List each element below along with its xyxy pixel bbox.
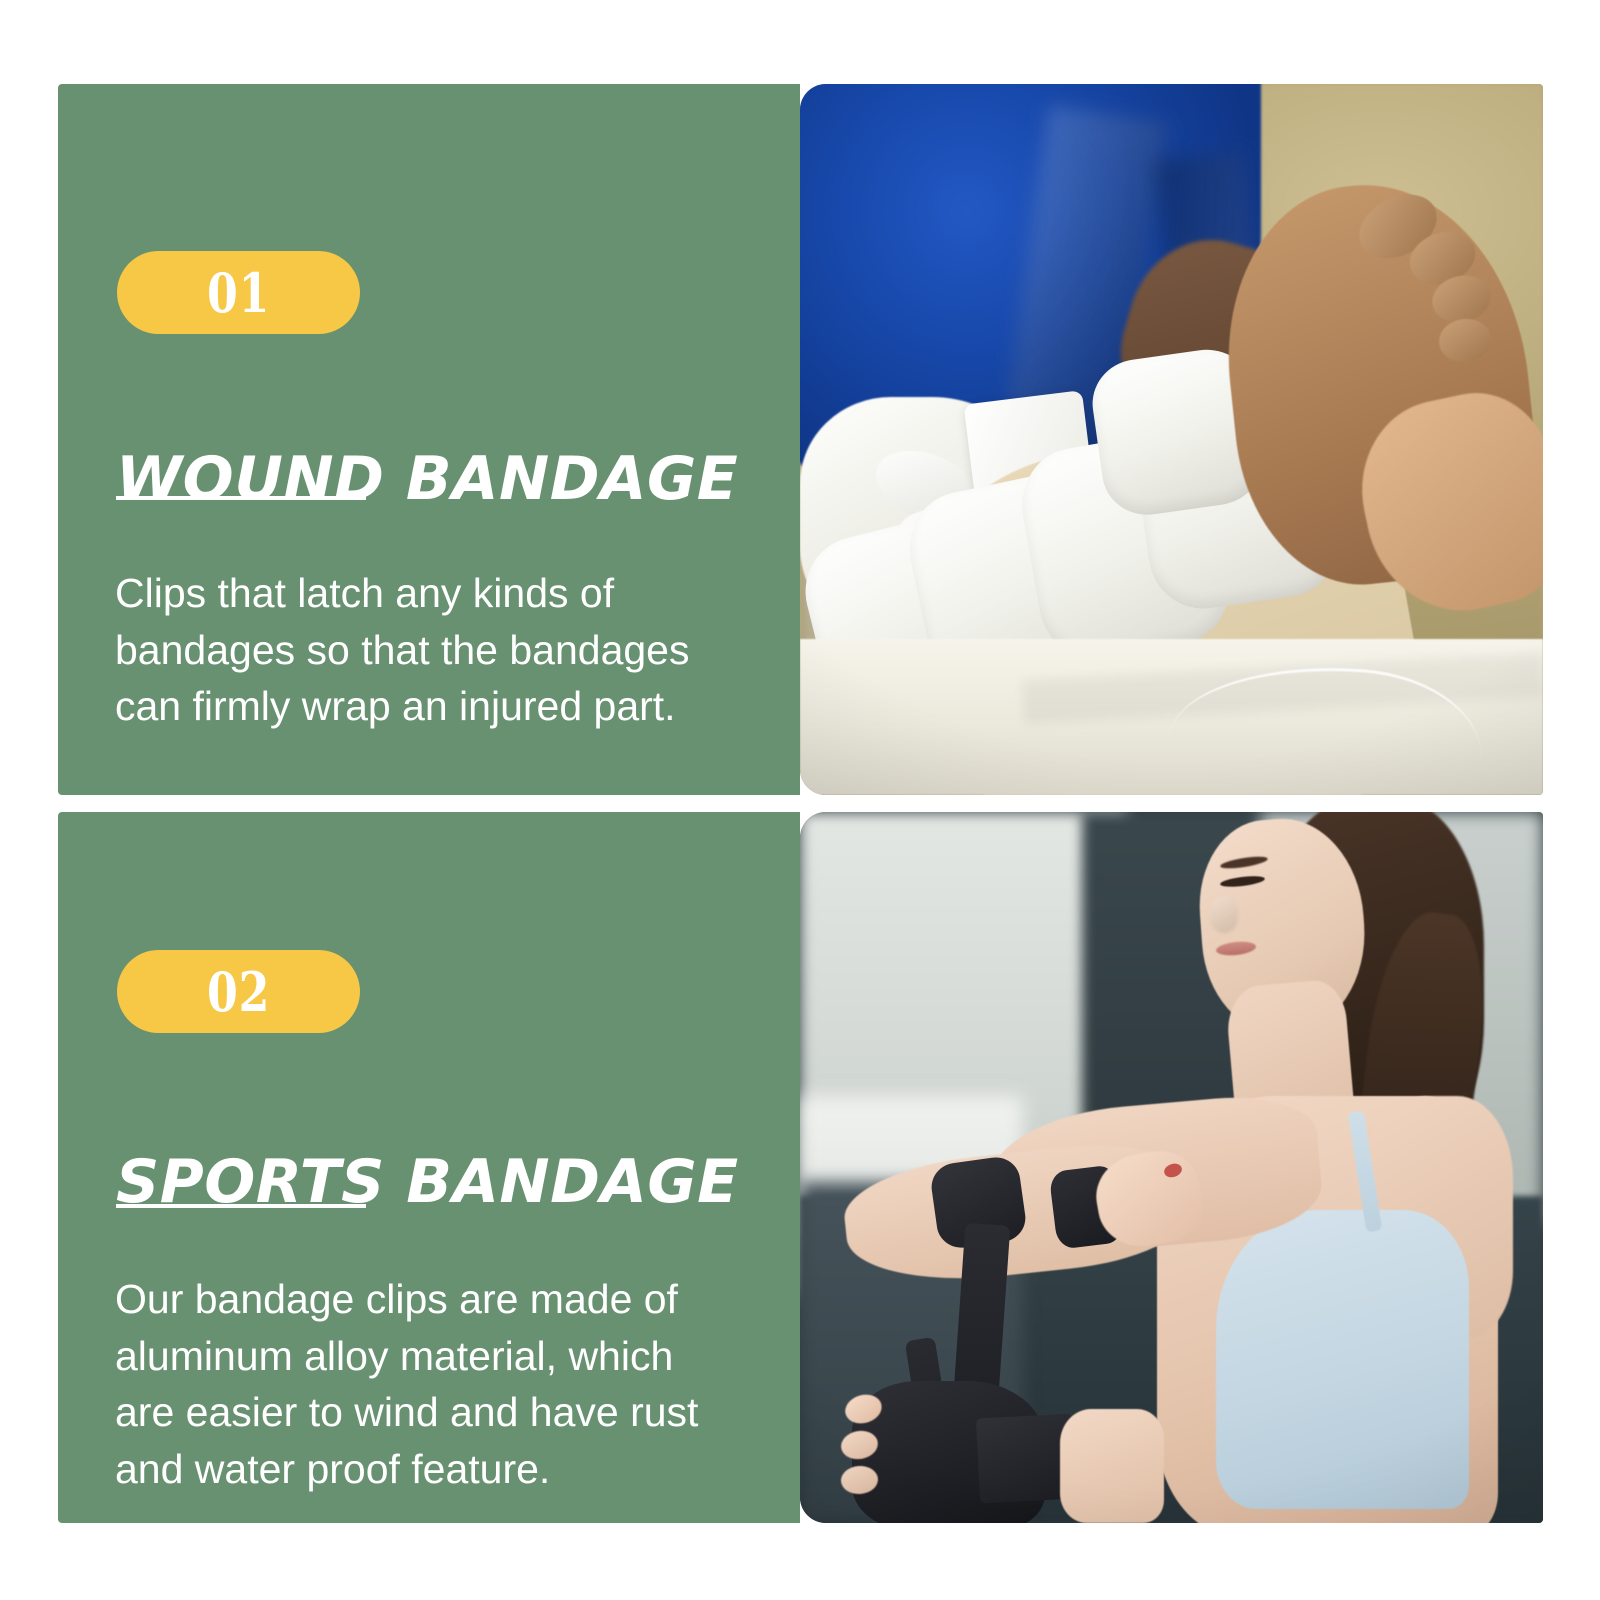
photo-sports-bandage-scene (800, 812, 1543, 1523)
photo-wound-bandage-scene (800, 84, 1543, 795)
step-badge-02: 02 (117, 950, 360, 1033)
panel-title-2: SPORTS BANDAGE (116, 1152, 776, 1212)
title-divider-1 (116, 496, 366, 500)
panel-photo-wound-bandage (800, 84, 1543, 795)
panel-text-column-1: 01 WOUND BANDAGE Clips that latch any ki… (58, 84, 800, 795)
panel-description-2: Our bandage clips are made of aluminum a… (115, 1271, 775, 1497)
step-number-label: 01 (207, 266, 270, 320)
model-wrist-skin (1060, 1409, 1164, 1523)
feature-panel-sports-bandage: 02 SPORTS BANDAGE Our bandage clips are … (58, 812, 1543, 1523)
feature-panel-wound-bandage: 01 WOUND BANDAGE Clips that latch any ki… (58, 84, 1543, 795)
title-divider-2 (116, 1204, 366, 1208)
panel-text-column-2: 02 SPORTS BANDAGE Our bandage clips are … (58, 812, 800, 1523)
infographic-board: 01 WOUND BANDAGE Clips that latch any ki… (0, 0, 1600, 1600)
panel-photo-sports-bandage (800, 812, 1543, 1523)
model-nose (1209, 897, 1239, 933)
step-badge-01: 01 (117, 251, 360, 334)
step-number-label: 02 (207, 965, 270, 1019)
panel-description-1: Clips that latch any kinds of bandages s… (115, 565, 775, 735)
sports-bra (1216, 1210, 1469, 1509)
